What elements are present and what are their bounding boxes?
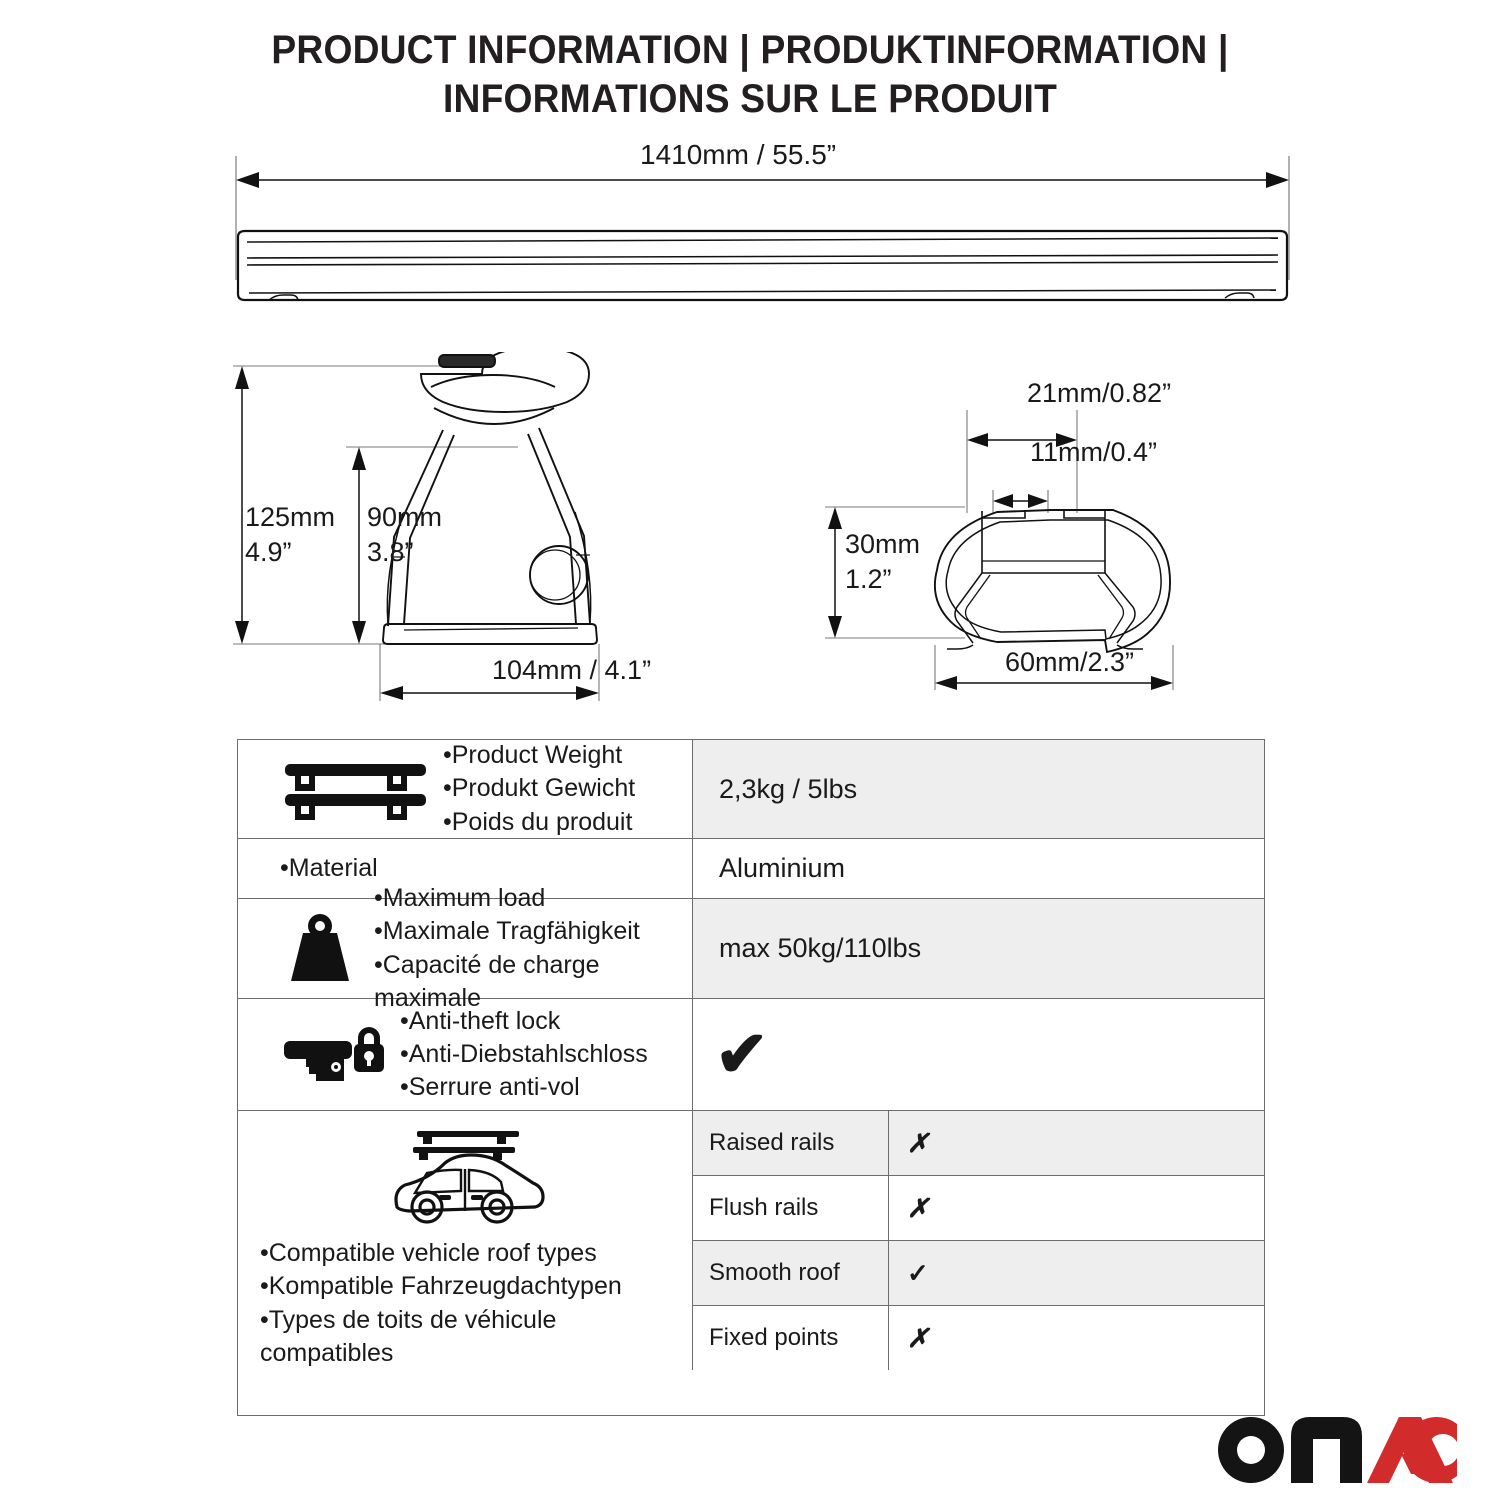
roof-type-name: Raised rails xyxy=(693,1111,889,1175)
specification-table: •Product Weight •Produkt Gewicht •Poids … xyxy=(237,739,1265,1416)
check-icon: ✓ xyxy=(907,1258,929,1289)
roof-type-name: Flush rails xyxy=(693,1176,889,1240)
foot-inner-height-label: 90mm 3.8” xyxy=(367,500,442,569)
omac-logo xyxy=(1215,1412,1465,1486)
table-row: •Anti-theft lock •Anti-Diebstahlschloss … xyxy=(238,999,1264,1111)
roof-type-mark: ✓ xyxy=(889,1241,1264,1305)
roof-types-label-text: •Compatible vehicle roof types •Kompatib… xyxy=(238,1229,680,1370)
page-title: PRODUCT INFORMATION | PRODUKTINFORMATION… xyxy=(53,26,1448,124)
product-information-sheet: PRODUCT INFORMATION | PRODUKTINFORMATION… xyxy=(0,0,1500,1500)
weight-icon xyxy=(238,913,374,985)
spec-label-cell: •Product Weight •Produkt Gewicht •Poids … xyxy=(238,740,693,838)
spec-value-cell: 2,3kg / 5lbs xyxy=(693,740,1264,838)
cross-icon: ✗ xyxy=(907,1128,929,1159)
spec-value-text: Aluminium xyxy=(693,853,845,884)
roof-type-name: Smooth roof xyxy=(693,1241,889,1305)
table-row: •Product Weight •Produkt Gewicht •Poids … xyxy=(238,740,1264,839)
spec-label-text: •Product Weight •Produkt Gewicht •Poids … xyxy=(443,739,635,839)
foot-total-height-label: 125mm 4.9” xyxy=(245,500,335,569)
cross-icon: ✗ xyxy=(907,1193,929,1224)
roof-type-row: Fixed points ✗ xyxy=(693,1306,1264,1370)
anti-theft-check-mark: ✔ xyxy=(693,1029,769,1080)
roof-type-row: Smooth roof ✓ xyxy=(693,1241,1264,1306)
roof-type-mark: ✗ xyxy=(889,1306,1264,1370)
profile-channel-inner-label: 11mm/0.4” xyxy=(1030,437,1157,468)
roof-type-mark: ✗ xyxy=(889,1111,1264,1175)
spec-label-text: •Anti-theft lock •Anti-Diebstahlschloss … xyxy=(400,1005,648,1105)
title-line-2: INFORMATIONS SUR LE PRODUIT xyxy=(53,75,1448,124)
spec-value-cell: max 50kg/110lbs xyxy=(693,899,1264,998)
spec-label-text: •Maximum load •Maximale Tragfähigkeit •C… xyxy=(374,882,692,1015)
roof-bars-icon xyxy=(238,758,443,820)
spec-value-cell: ✔ xyxy=(693,999,1264,1110)
foot-width-label: 104mm / 4.1” xyxy=(492,655,651,686)
spec-value-text: 2,3kg / 5lbs xyxy=(693,774,857,805)
car-with-roof-bars-icon xyxy=(238,1125,692,1229)
profile-channel-outer-label: 21mm/0.82” xyxy=(1027,378,1171,409)
lock-icon xyxy=(238,1020,400,1090)
profile-height-label: 30mm 1.2” xyxy=(845,527,920,596)
roof-type-row: Raised rails ✗ xyxy=(693,1111,1264,1176)
roof-type-mark: ✗ xyxy=(889,1176,1264,1240)
spec-value-cell: Aluminium xyxy=(693,839,1264,898)
roof-types-subtable: Raised rails ✗ Flush rails ✗ Smooth roof xyxy=(693,1111,1264,1370)
spec-label-cell: •Maximum load •Maximale Tragfähigkeit •C… xyxy=(238,899,693,998)
table-row-roof-types: •Compatible vehicle roof types •Kompatib… xyxy=(238,1111,1264,1370)
roof-type-name: Fixed points xyxy=(693,1306,889,1370)
spec-label-text: •Material xyxy=(238,852,378,885)
cross-icon: ✗ xyxy=(907,1323,929,1354)
roof-types-label-cell: •Compatible vehicle roof types •Kompatib… xyxy=(238,1111,693,1370)
crossbar-length-drawing xyxy=(225,150,1300,315)
title-line-1: PRODUCT INFORMATION | PRODUKTINFORMATION… xyxy=(271,28,1228,72)
roof-type-row: Flush rails ✗ xyxy=(693,1176,1264,1241)
spec-label-cell: •Anti-theft lock •Anti-Diebstahlschloss … xyxy=(238,999,693,1110)
table-row: •Maximum load •Maximale Tragfähigkeit •C… xyxy=(238,899,1264,999)
spec-value-text: max 50kg/110lbs xyxy=(693,933,921,964)
profile-width-label: 60mm/2.3” xyxy=(1005,647,1134,678)
bar-length-dimension-label: 1410mm / 55.5” xyxy=(640,139,836,171)
